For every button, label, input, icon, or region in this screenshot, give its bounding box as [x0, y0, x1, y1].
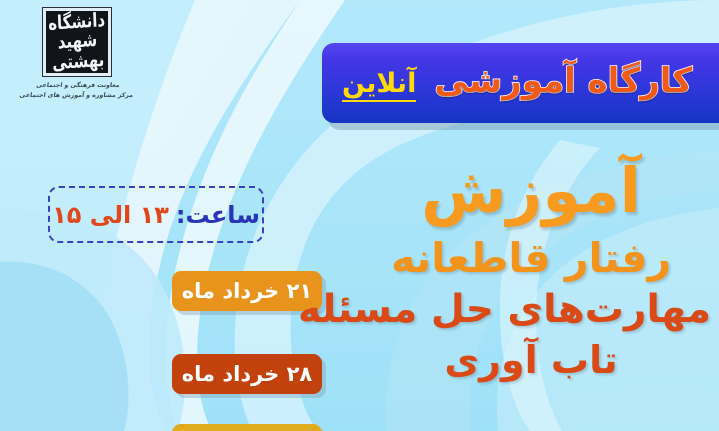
logo-subtitle: معاونت فرهنگی و اجتماعی مرکز مشاوره و آم…: [16, 81, 137, 101]
heading-topic-1: رفتار قاطعانه: [351, 238, 711, 279]
logo-mark-icon: دانشگاه شهید بهشتی: [43, 8, 111, 76]
poster-canvas: دانشگاه شهید بهشتی معاونت فرهنگی و اجتما…: [0, 0, 719, 431]
time-box: ساعت: ۱۳ الی ۱۵: [48, 186, 264, 243]
date-badge: ۲۸ خرداد ماه: [172, 354, 322, 394]
logo-subtitle-line-1: معاونت فرهنگی و اجتماعی: [18, 81, 138, 91]
time-value: ۱۳ الی ۱۵: [52, 203, 169, 227]
banner-content: کارگاه آموزشی آنلاین: [322, 64, 719, 102]
logo-mark-line-3: بهشتی: [49, 50, 107, 73]
time-label: ساعت:: [176, 203, 260, 227]
date-badge: ۴ تیر ماه: [172, 424, 322, 431]
logo-calligraphy: دانشگاه شهید بهشتی: [47, 11, 106, 73]
workshop-banner: کارگاه آموزشی آنلاین: [322, 43, 719, 123]
heading-topic-2: مهارت‌های حل مسئله: [351, 290, 711, 329]
university-logo: دانشگاه شهید بهشتی معاونت فرهنگی و اجتما…: [18, 8, 136, 118]
banner-title: کارگاه آموزشی: [434, 64, 692, 98]
heading-primary: آموزش: [351, 160, 711, 222]
heading-topic-3: تاب آوری: [351, 341, 711, 379]
logo-subtitle-line-2: مرکز مشاوره و آموزش های اجتماعی: [16, 91, 136, 101]
banner-online-badge: آنلاین: [342, 70, 416, 102]
headings-group: آموزش رفتار قاطعانه مهارت‌های حل مسئله ت…: [351, 160, 711, 379]
